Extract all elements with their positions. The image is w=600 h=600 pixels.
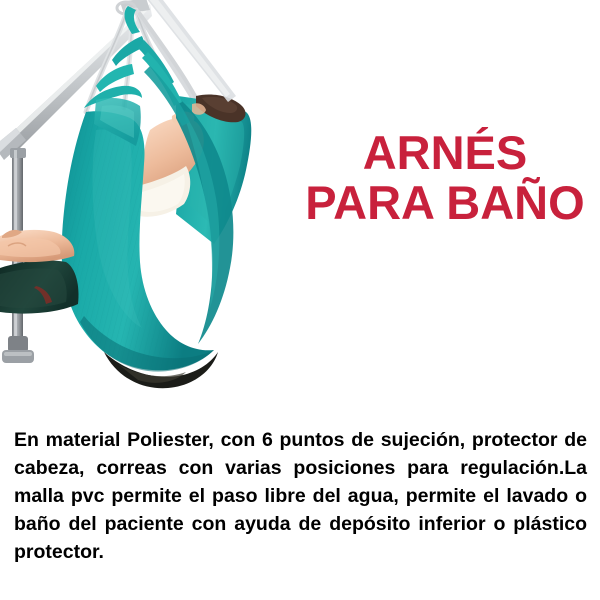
page-title: ARNÉS PARA BAÑO: [300, 128, 590, 228]
title-line-2: PARA BAÑO: [300, 178, 590, 228]
title-line-1: ARNÉS: [300, 128, 590, 178]
product-card: ARNÉS PARA BAÑO En material Poliester, c…: [0, 0, 600, 600]
bath-sling-illustration: [0, 0, 300, 400]
product-description: En material Poliester, con 6 puntos de s…: [14, 426, 587, 566]
person-legs: [0, 260, 79, 313]
product-photo: [0, 0, 300, 400]
